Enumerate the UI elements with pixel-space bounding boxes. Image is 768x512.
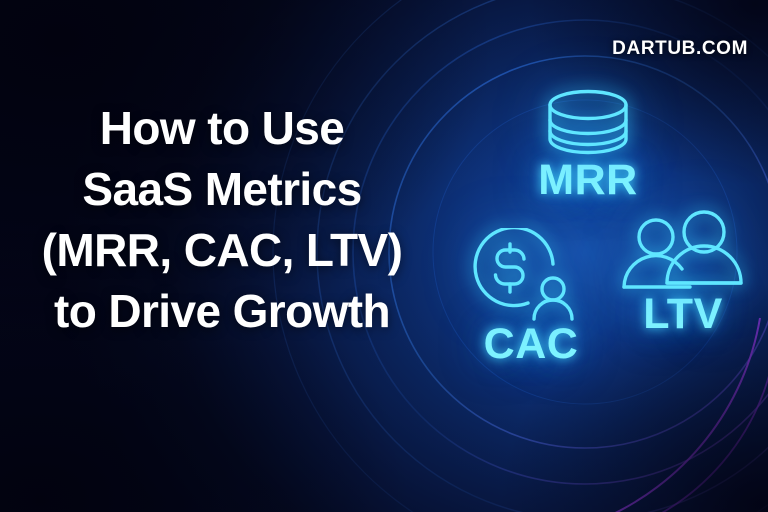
metric-mrr: MRR xyxy=(508,86,668,205)
database-cylinder-icon xyxy=(508,86,668,158)
title-line-4: to Drive Growth xyxy=(14,281,430,342)
metric-cac: CAC xyxy=(456,228,606,369)
page-title: How to Use SaaS Metrics (MRR, CAC, LTV) … xyxy=(0,98,430,342)
metric-ltv-label: LTV xyxy=(612,290,754,339)
metric-cac-label: CAC xyxy=(456,320,606,369)
metric-mrr-label: MRR xyxy=(508,156,668,205)
metrics-icon-cluster: MRR CAC xyxy=(430,0,768,512)
title-line-1: How to Use xyxy=(14,98,430,159)
title-line-3: (MRR, CAC, LTV) xyxy=(14,220,430,281)
title-line-2: SaaS Metrics xyxy=(14,159,430,220)
metric-ltv: LTV xyxy=(612,210,754,339)
banner-canvas: DARTUB.COM How to Use SaaS Metrics (MRR,… xyxy=(0,0,768,512)
two-people-icon xyxy=(612,210,754,294)
dollar-circle-person-icon xyxy=(456,228,606,324)
